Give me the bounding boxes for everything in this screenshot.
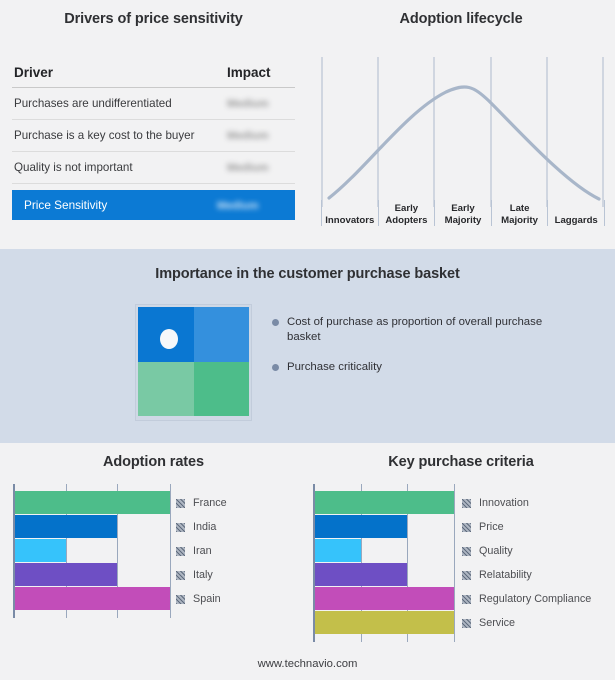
legend-item-label: Service <box>479 617 515 629</box>
lifecycle-stage-late-majority: Late Majority <box>492 200 549 226</box>
legend-item[interactable]: Italy <box>176 563 227 587</box>
legend-swatch-icon <box>462 547 471 556</box>
legend-item[interactable]: Service <box>462 611 591 635</box>
stage-line2: Majority <box>436 215 490 227</box>
legend-item-label: Spain <box>193 593 221 605</box>
impact-value-blurred: Medium <box>217 200 259 212</box>
bar-relatability[interactable] <box>315 563 407 586</box>
bar-regulatory-compliance[interactable] <box>315 587 454 610</box>
legend-swatch-icon <box>462 619 471 628</box>
table-row[interactable]: Purchases are undifferentiated Medium <box>12 88 295 120</box>
legend-item[interactable]: India <box>176 515 227 539</box>
key-purchase-criteria-legend: Innovation Price Quality Relatability Re… <box>462 491 591 635</box>
legend-item: Cost of purchase as proportion of overal… <box>272 315 552 344</box>
bar-row <box>315 611 454 635</box>
legend-item-label: Purchase criticality <box>287 360 382 375</box>
importance-panel-title: Importance in the customer purchase bask… <box>0 266 615 282</box>
legend-swatch-icon <box>176 571 185 580</box>
adoption-rates-plot <box>13 484 170 618</box>
impact-value-blurred: Medium <box>227 162 269 174</box>
lifecycle-bell-curve <box>329 87 599 199</box>
stage-line1: Early <box>436 203 490 215</box>
driver-cell: Quality is not important <box>14 161 133 174</box>
key-purchase-criteria-panel: Key purchase criteria <box>307 443 615 680</box>
matrix-position-marker <box>160 329 178 349</box>
bar-india[interactable] <box>15 515 117 538</box>
stage-line2: Innovators <box>323 215 377 227</box>
lifecycle-panel-title: Adoption lifecycle <box>307 11 615 27</box>
importance-legend: Cost of purchase as proportion of overal… <box>272 315 552 391</box>
impact-value-blurred: Medium <box>227 130 269 142</box>
stage-line2: Laggards <box>549 215 603 227</box>
legend-swatch-icon <box>176 499 185 508</box>
bar-row <box>315 491 454 515</box>
legend-item[interactable]: Quality <box>462 539 591 563</box>
driver-cell: Purchases are undifferentiated <box>14 97 172 110</box>
matrix-quadrant-bottom-left[interactable] <box>138 362 194 417</box>
stage-line2: Majority <box>493 215 547 227</box>
legend-bullet-icon <box>272 364 279 371</box>
legend-item[interactable]: Spain <box>176 587 227 611</box>
impact-cell: Medium <box>227 129 293 142</box>
drivers-panel: Drivers of price sensitivity Driver Impa… <box>0 0 307 249</box>
impact-cell: Medium <box>227 97 293 110</box>
importance-matrix-frame <box>135 304 252 421</box>
stage-line1: Early <box>380 203 434 215</box>
impact-cell: Medium <box>227 161 293 174</box>
legend-bullet-icon <box>272 319 279 326</box>
table-row[interactable]: Purchase is a key cost to the buyer Medi… <box>12 120 295 152</box>
bar-row <box>315 515 454 539</box>
legend-item-label: Relatability <box>479 569 532 581</box>
infographic-page: Drivers of price sensitivity Driver Impa… <box>0 0 615 680</box>
bar-iran[interactable] <box>15 539 66 562</box>
adoption-rates-title: Adoption rates <box>0 454 307 470</box>
importance-panel: Importance in the customer purchase bask… <box>0 249 615 443</box>
lifecycle-stage-early-adopters: Early Adopters <box>379 200 436 226</box>
lifecycle-stage-early-majority: Early Majority <box>435 200 492 226</box>
matrix-quadrant-top-right[interactable] <box>194 307 250 362</box>
legend-item-label: France <box>193 497 227 509</box>
legend-swatch-icon <box>462 595 471 604</box>
lifecycle-dividers <box>322 57 603 207</box>
bar-row <box>315 563 454 587</box>
table-header-row: Driver Impact <box>12 58 295 88</box>
legend-item-label: Iran <box>193 545 212 557</box>
legend-item[interactable]: Relatability <box>462 563 591 587</box>
adoption-rates-panel: Adoption rates <box>0 443 307 680</box>
column-header-impact: Impact <box>227 65 293 80</box>
gridline <box>170 484 171 618</box>
adoption-rates-legend: France India Iran Italy Spain <box>176 491 227 611</box>
bar-france[interactable] <box>15 491 170 514</box>
lifecycle-chart <box>321 57 605 207</box>
bar-row <box>315 539 454 563</box>
legend-swatch-icon <box>462 499 471 508</box>
bar-service[interactable] <box>315 611 454 634</box>
stage-line1: Late <box>493 203 547 215</box>
lifecycle-stage-innovators: Innovators <box>321 200 379 226</box>
importance-matrix <box>138 307 249 416</box>
matrix-quadrant-bottom-right[interactable] <box>194 362 250 417</box>
legend-item-label: Price <box>479 521 504 533</box>
column-header-driver: Driver <box>14 65 53 80</box>
table-row-highlighted[interactable]: Price Sensitivity Medium <box>12 190 295 220</box>
bar-row <box>15 515 170 539</box>
adoption-rates-plot-area <box>13 484 170 618</box>
key-purchase-criteria-title: Key purchase criteria <box>307 454 615 470</box>
bar-row <box>15 563 170 587</box>
bar-price[interactable] <box>315 515 407 538</box>
footer-url[interactable]: www.technavio.com <box>0 658 615 670</box>
bar-row <box>315 587 454 611</box>
legend-item[interactable]: France <box>176 491 227 515</box>
legend-swatch-icon <box>462 571 471 580</box>
bar-row <box>15 539 170 563</box>
drivers-panel-title: Drivers of price sensitivity <box>0 11 307 27</box>
lifecycle-curve-svg <box>321 57 605 207</box>
legend-item[interactable]: Iran <box>176 539 227 563</box>
lifecycle-panel: Adoption lifecycle Innovators <box>307 0 615 249</box>
lifecycle-stage-laggards: Laggards <box>548 200 605 226</box>
bar-innovation[interactable] <box>315 491 454 514</box>
legend-item[interactable]: Regulatory Compliance <box>462 587 591 611</box>
stage-line2: Adopters <box>380 215 434 227</box>
legend-swatch-icon <box>176 547 185 556</box>
driver-cell-highlighted: Price Sensitivity <box>24 198 107 212</box>
key-purchase-criteria-plot-area <box>313 484 454 642</box>
bar-row <box>15 587 170 611</box>
legend-item-label: Cost of purchase as proportion of overal… <box>287 315 552 344</box>
table-row[interactable]: Quality is not important Medium <box>12 152 295 184</box>
legend-item-label: Quality <box>479 545 513 557</box>
bar-italy[interactable] <box>15 563 117 586</box>
bar-spain[interactable] <box>15 587 170 610</box>
impact-value-blurred: Medium <box>227 98 269 110</box>
bar-row <box>15 491 170 515</box>
legend-swatch-icon <box>176 595 185 604</box>
legend-item[interactable]: Innovation <box>462 491 591 515</box>
key-purchase-criteria-plot <box>313 484 454 642</box>
legend-item-label: Innovation <box>479 497 529 509</box>
legend-item: Purchase criticality <box>272 360 552 375</box>
legend-item-label: India <box>193 521 216 533</box>
bar-quality[interactable] <box>315 539 361 562</box>
driver-cell: Purchase is a key cost to the buyer <box>14 129 194 142</box>
gridline <box>454 484 455 642</box>
legend-item-label: Regulatory Compliance <box>479 593 591 605</box>
legend-swatch-icon <box>176 523 185 532</box>
legend-item-label: Italy <box>193 569 213 581</box>
lifecycle-stage-labels: Innovators Early Adopters Early Majority… <box>321 200 605 226</box>
legend-swatch-icon <box>462 523 471 532</box>
legend-item[interactable]: Price <box>462 515 591 539</box>
impact-cell-highlighted: Medium <box>217 198 283 212</box>
drivers-table: Driver Impact Purchases are undifferenti… <box>12 58 295 220</box>
